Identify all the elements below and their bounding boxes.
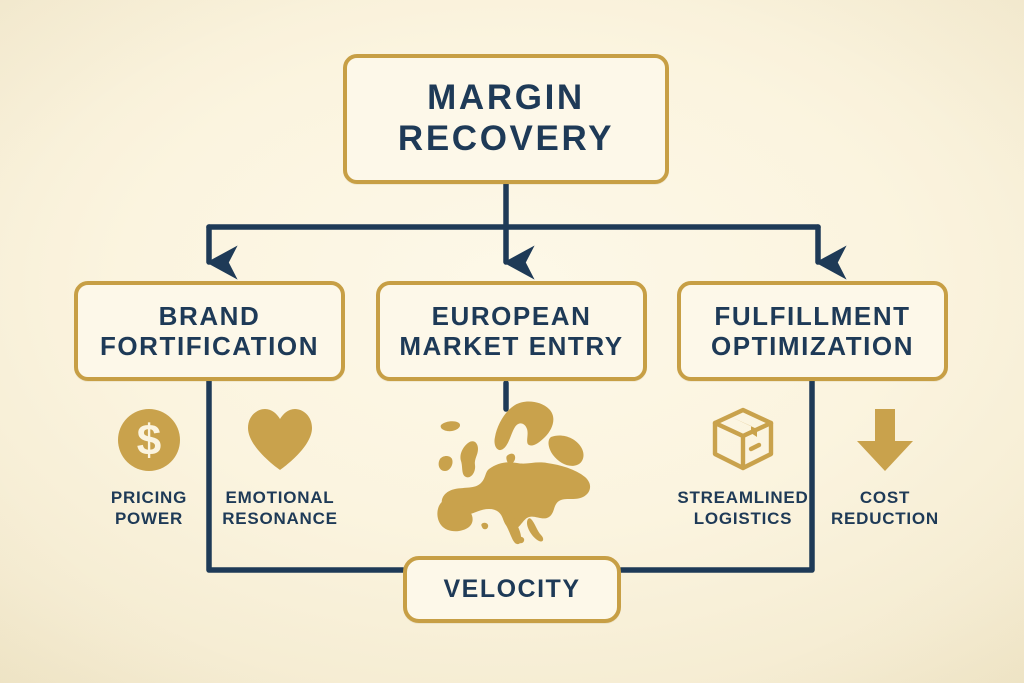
european-market-entry-node[interactable]: EUROPEAN MARKET ENTRY bbox=[376, 281, 647, 381]
dollar-coin-icon: $ bbox=[115, 404, 183, 476]
leaf-cost-reduction-label: COST REDUCTION bbox=[831, 488, 939, 529]
margin-recovery-node[interactable]: MARGIN RECOVERY bbox=[343, 54, 669, 184]
velocity-node[interactable]: VELOCITY bbox=[403, 556, 621, 623]
package-box-icon bbox=[707, 404, 779, 476]
leaf-emotional-resonance-label: EMOTIONAL RESONANCE bbox=[222, 488, 338, 529]
leaf-emotional-resonance: EMOTIONAL RESONANCE bbox=[204, 404, 356, 529]
brand-fortification-node[interactable]: BRAND FORTIFICATION bbox=[74, 281, 345, 381]
leaf-streamlined-logistics-label: STREAMLINED LOGISTICS bbox=[677, 488, 808, 529]
leaf-streamlined-logistics: STREAMLINED LOGISTICS bbox=[667, 404, 819, 529]
fulfillment-optimization-node[interactable]: FULFILLMENT OPTIMIZATION bbox=[677, 281, 948, 381]
leaf-pricing-power-label: PRICING POWER bbox=[111, 488, 187, 529]
down-arrow-icon bbox=[853, 404, 917, 476]
europe-map-icon bbox=[420, 396, 602, 548]
leaf-cost-reduction: COST REDUCTION bbox=[810, 404, 960, 529]
leaf-pricing-power: $ PRICING POWER bbox=[74, 404, 224, 529]
heart-icon bbox=[244, 404, 316, 476]
diagram-canvas: MARGIN RECOVERY BRAND FORTIFICATION EURO… bbox=[0, 0, 1024, 683]
svg-text:$: $ bbox=[137, 416, 161, 465]
